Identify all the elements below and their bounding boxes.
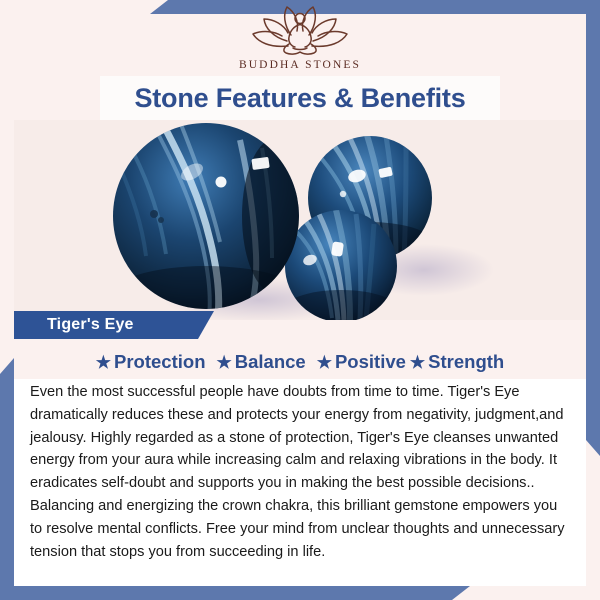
benefit-label: Strength bbox=[428, 351, 504, 373]
stone-name-ribbon: Tiger's Eye bbox=[14, 311, 214, 339]
brand-block: BUDDHA STONES bbox=[0, 4, 600, 71]
star-icon: ★ bbox=[96, 354, 111, 371]
star-icon: ★ bbox=[217, 354, 232, 371]
benefit-item: ★ Protection bbox=[96, 351, 206, 373]
poster-root: BUDDHA STONES Stone Features & Benefits bbox=[0, 0, 600, 600]
description-text: Even the most successful people have dou… bbox=[30, 381, 572, 563]
stone-name-label: Tiger's Eye bbox=[47, 316, 134, 334]
star-icon: ★ bbox=[317, 354, 332, 371]
description-block: Even the most successful people have dou… bbox=[14, 379, 586, 586]
frame-band-bottom bbox=[0, 586, 470, 600]
benefit-label: Positive bbox=[335, 351, 406, 373]
title-band: Stone Features & Benefits bbox=[100, 76, 500, 120]
frame-band-left bbox=[0, 358, 14, 586]
benefit-label: Protection bbox=[114, 351, 205, 373]
brand-name: BUDDHA STONES bbox=[239, 59, 361, 71]
benefit-item: ★ Balance bbox=[217, 351, 306, 373]
benefit-item: ★ Strength bbox=[410, 351, 504, 373]
benefit-item: ★ Positive bbox=[317, 351, 406, 373]
frame-band-right bbox=[586, 14, 600, 456]
star-icon: ★ bbox=[410, 354, 425, 371]
page-title: Stone Features & Benefits bbox=[134, 83, 465, 114]
benefit-label: Balance bbox=[235, 351, 306, 373]
benefits-row: ★ Protection ★ Balance ★ Positive ★ Stre… bbox=[14, 348, 586, 376]
blue-tigers-eye-spheres-photo bbox=[14, 120, 586, 320]
lotus-meditation-icon bbox=[248, 4, 352, 58]
